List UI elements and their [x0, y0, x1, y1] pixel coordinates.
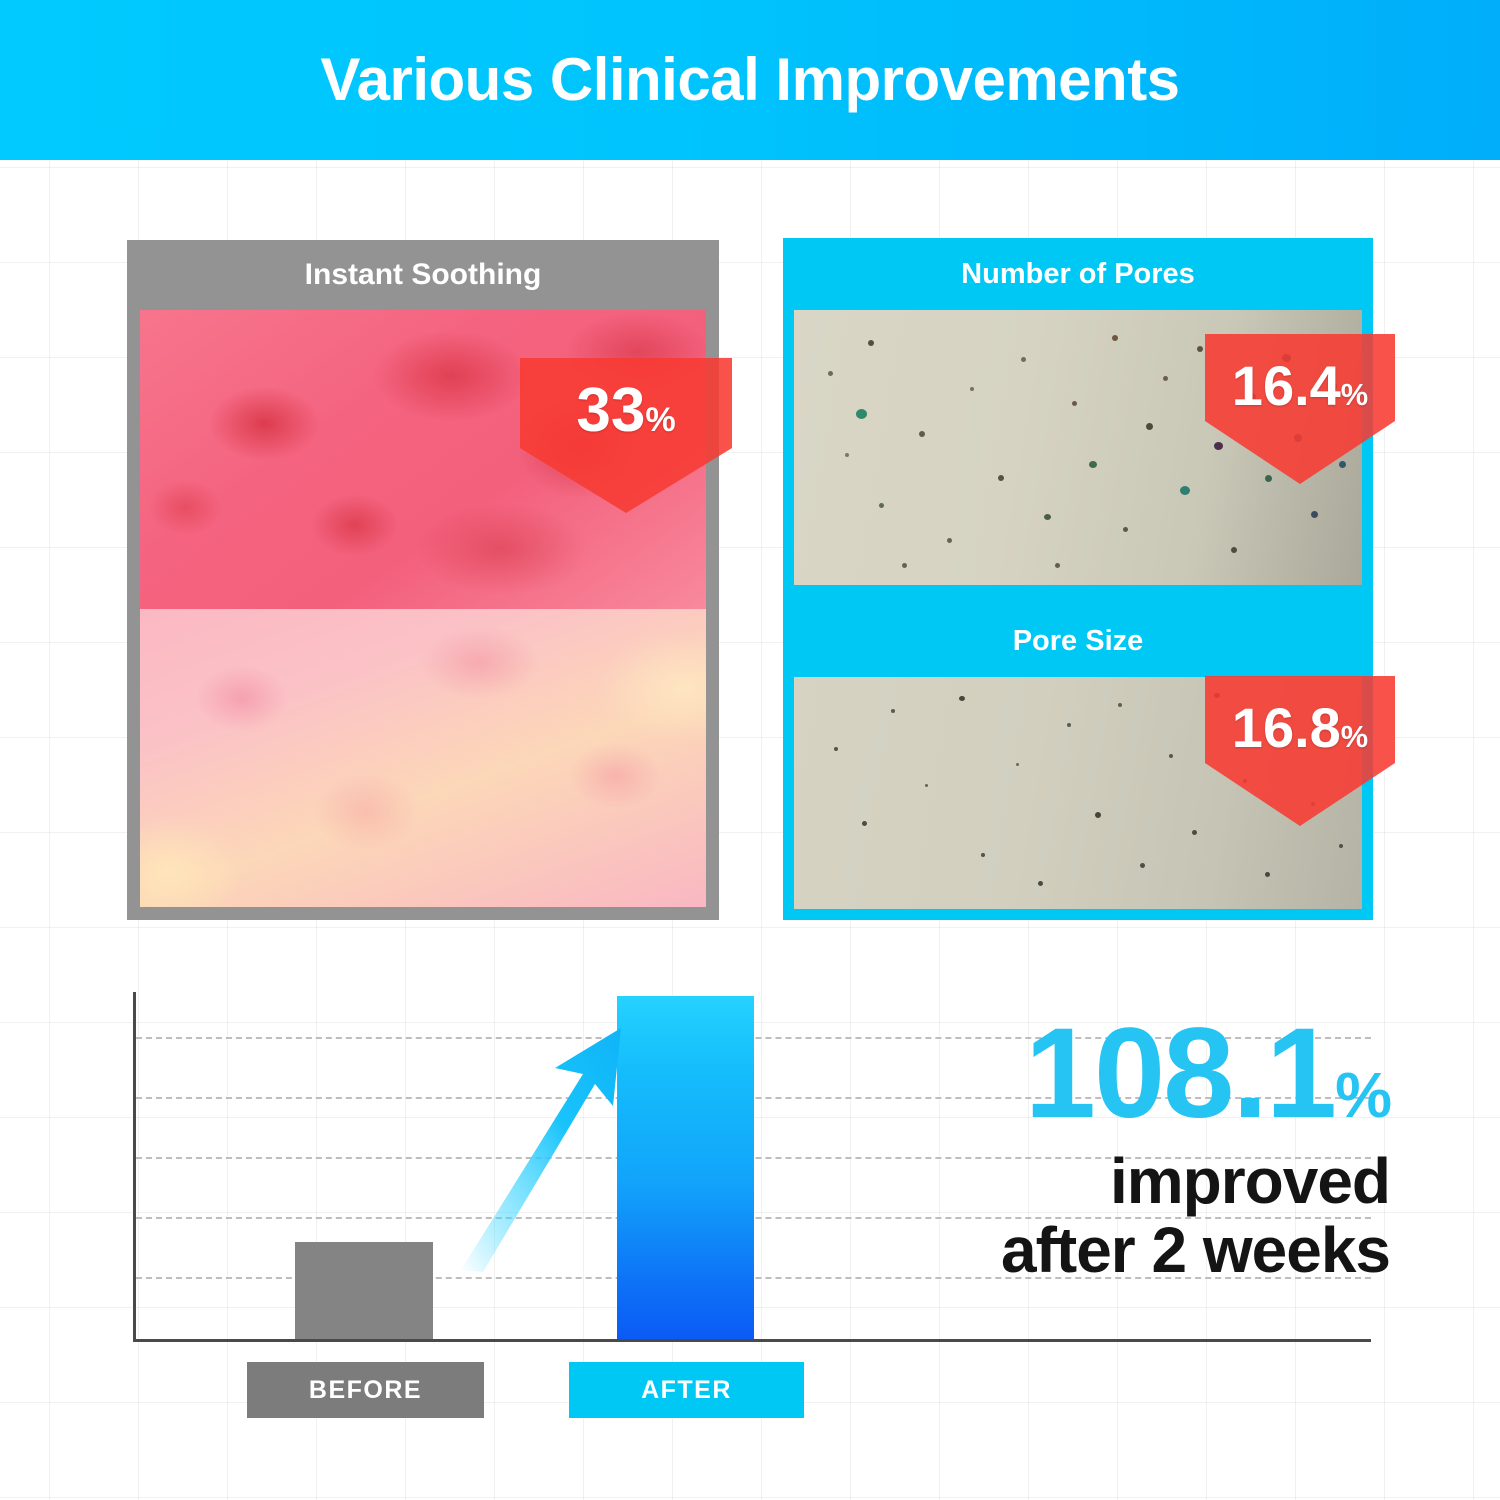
- panel-instant-soothing: Instant Soothing: [127, 240, 719, 920]
- pore-count-microscope-image: [794, 310, 1362, 585]
- chart-category-label-before: BEFORE: [247, 1362, 484, 1418]
- upward-growth-arrow-icon: [455, 1022, 635, 1272]
- panel-number-of-pores-label-bar: Number of Pores: [783, 238, 1373, 310]
- panel-pore-size-label-bar: Pore Size: [783, 605, 1373, 677]
- improvement-percentage: 108.1%: [830, 1015, 1390, 1133]
- skin-image-before-half: [140, 310, 706, 609]
- pore-size-microscope-image: [794, 677, 1362, 909]
- chart-bar-before: [295, 1242, 433, 1339]
- panel-instant-soothing-label: Instant Soothing: [127, 260, 719, 290]
- panel-pore-size-label: Pore Size: [783, 627, 1373, 656]
- improvement-caption-line1: improved: [830, 1147, 1390, 1216]
- panel-number-of-pores-label: Number of Pores: [783, 260, 1373, 289]
- skin-redness-comparison-image: [140, 310, 706, 907]
- panel-pores-group: Number of Pores Pore Size: [783, 238, 1373, 920]
- header-banner: Various Clinical Improvements: [0, 0, 1500, 160]
- chart-bar-after: [617, 996, 754, 1339]
- improvement-caption-line2: after 2 weeks: [830, 1216, 1390, 1285]
- chart-y-axis: [133, 992, 136, 1342]
- skin-image-after-half: [140, 609, 706, 908]
- improvement-stat-block: 108.1% improved after 2 weeks: [830, 1015, 1390, 1285]
- page-title: Various Clinical Improvements: [320, 50, 1179, 110]
- panel-instant-soothing-label-bar: Instant Soothing: [127, 240, 719, 310]
- chart-category-label-after: AFTER: [569, 1362, 804, 1418]
- chart-x-axis: [133, 1339, 1371, 1342]
